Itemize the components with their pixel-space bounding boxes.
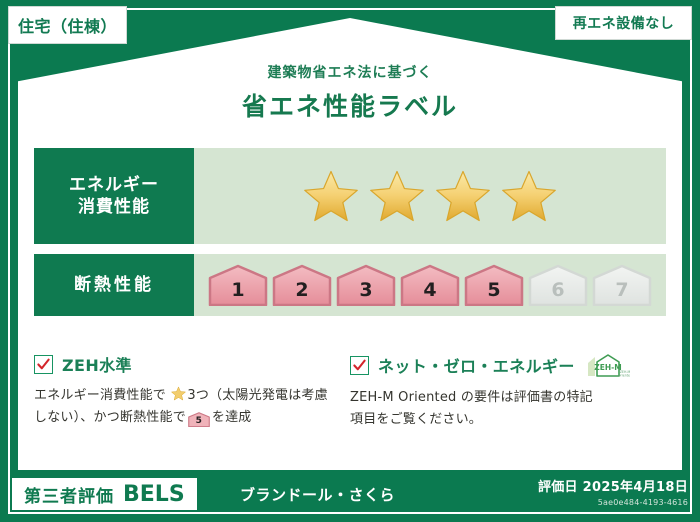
energy-performance-label: エネルギー 消費性能 <box>34 148 194 244</box>
bels-badge: 第三者評価 BELS <box>12 478 197 510</box>
grade-value-5: 5 <box>487 279 500 306</box>
check-icon <box>36 357 51 372</box>
grade-value-2: 2 <box>295 279 308 306</box>
building-type-label: 住宅（住棟） <box>18 13 117 37</box>
metrics-section: エネルギー 消費性能 <box>34 148 666 326</box>
grade-chip-6: 6 <box>528 264 588 306</box>
building-type-chip: 住宅（住棟） <box>8 6 127 44</box>
grade-chip-3: 3 <box>336 264 396 306</box>
zeh-body-stars: 3つ（太陽光発電 <box>187 388 288 403</box>
grade-value-4: 4 <box>423 279 436 306</box>
inline-grade-chip: 5 <box>188 412 210 427</box>
grade-value-7: 7 <box>615 279 628 306</box>
check-icon <box>352 358 367 373</box>
insulation-performance-row: 断熱性能 1 <box>34 254 666 316</box>
energy-performance-row: エネルギー 消費性能 <box>34 148 666 244</box>
star-icon-1 <box>303 168 359 224</box>
netzero-criteria-column: ネット・ゼロ・エネルギー ZEH-M ZEH-M Oriented ZEH-M … <box>350 352 666 432</box>
netzero-criteria-header: ネット・ゼロ・エネルギー ZEH-M ZEH-M Oriented <box>350 352 652 378</box>
criteria-section: ZEH水準 エネルギー消費性能で 3つ（太陽光発電は考慮しない）、かつ断熱性能で… <box>34 352 666 432</box>
netzero-checkbox[interactable] <box>350 356 369 375</box>
star-icon-4 <box>501 168 557 224</box>
grade-chip-4: 4 <box>400 264 460 306</box>
netzero-body-line2: 項目をご覧ください。 <box>350 409 652 431</box>
grade-chip-2: 2 <box>272 264 332 306</box>
evaluation-date: 評価日 2025年4月18日 <box>538 476 688 495</box>
star-icon-2 <box>369 168 425 224</box>
grade-value-1: 1 <box>231 279 244 306</box>
netzero-criteria-title: ネット・ゼロ・エネルギー <box>378 353 575 377</box>
svg-text:Oriented: Oriented <box>618 373 630 377</box>
inline-star-icon <box>171 386 186 401</box>
grade-value-3: 3 <box>359 279 372 306</box>
star-icon-3 <box>435 168 491 224</box>
property-name: ブランドール・さくら <box>240 484 395 505</box>
label-footer: 第三者評価 BELS ブランドール・さくら 評価日 2025年4月18日 5ae… <box>0 470 700 522</box>
renewable-equipment-chip: 再エネ設備なし <box>555 6 692 40</box>
energy-label-line1: エネルギー <box>69 174 159 196</box>
grade-chip-1: 1 <box>208 264 268 306</box>
zeh-body-post: を達成 <box>212 410 252 425</box>
grade-value-6: 6 <box>551 279 564 306</box>
energy-star-rating <box>194 148 666 244</box>
zeh-m-logo-icon: ZEH-M ZEH-M Oriented <box>584 352 630 378</box>
netzero-criteria-body: ZEH-M Oriented の要件は評価書の特記 項目をご覧ください。 <box>350 387 652 432</box>
zeh-checkbox[interactable] <box>34 355 53 374</box>
energy-label-line2: 消費性能 <box>78 196 150 218</box>
footer-meta: 評価日 2025年4月18日 5ae0e484-4193-4616 <box>538 476 688 507</box>
zeh-criteria-column: ZEH水準 エネルギー消費性能で 3つ（太陽光発電は考慮しない）、かつ断熱性能で… <box>34 352 350 432</box>
bels-en-label: BELS <box>123 482 185 507</box>
energy-label-card: 住宅（住棟） 再エネ設備なし 建築物省エネ法に基づく 省エネ性能ラベル エネルギ… <box>0 0 700 522</box>
svg-text:ZEH-M: ZEH-M <box>594 363 621 372</box>
zeh-body-pre: エネルギー消費性能で <box>34 388 166 403</box>
zeh-criteria-title: ZEH水準 <box>62 352 132 376</box>
title-subtitle: 建築物省エネ法に基づく <box>0 62 700 82</box>
netzero-body-line1: ZEH-M Oriented の要件は評価書の特記 <box>350 387 652 409</box>
page-title: 省エネ性能ラベル <box>0 87 700 123</box>
grade-list: 1 2 3 <box>208 264 652 306</box>
renewable-equipment-label: 再エネ設備なし <box>573 13 675 33</box>
insulation-grade-scale: 1 2 3 <box>194 254 666 316</box>
grade-chip-5: 5 <box>464 264 524 306</box>
bels-jp-label: 第三者評価 <box>24 482 114 507</box>
label-title-block: 建築物省エネ法に基づく 省エネ性能ラベル <box>0 62 700 123</box>
grade-chip-7: 7 <box>592 264 652 306</box>
document-id: 5ae0e484-4193-4616 <box>538 498 688 507</box>
zeh-criteria-body: エネルギー消費性能で 3つ（太陽光発電は考慮しない）、かつ断熱性能で 5 を達成 <box>34 385 336 430</box>
inline-grade-value: 5 <box>188 412 210 430</box>
zeh-criteria-header: ZEH水準 <box>34 352 336 376</box>
insulation-performance-label: 断熱性能 <box>34 254 194 316</box>
insulation-label-text: 断熱性能 <box>74 274 154 296</box>
